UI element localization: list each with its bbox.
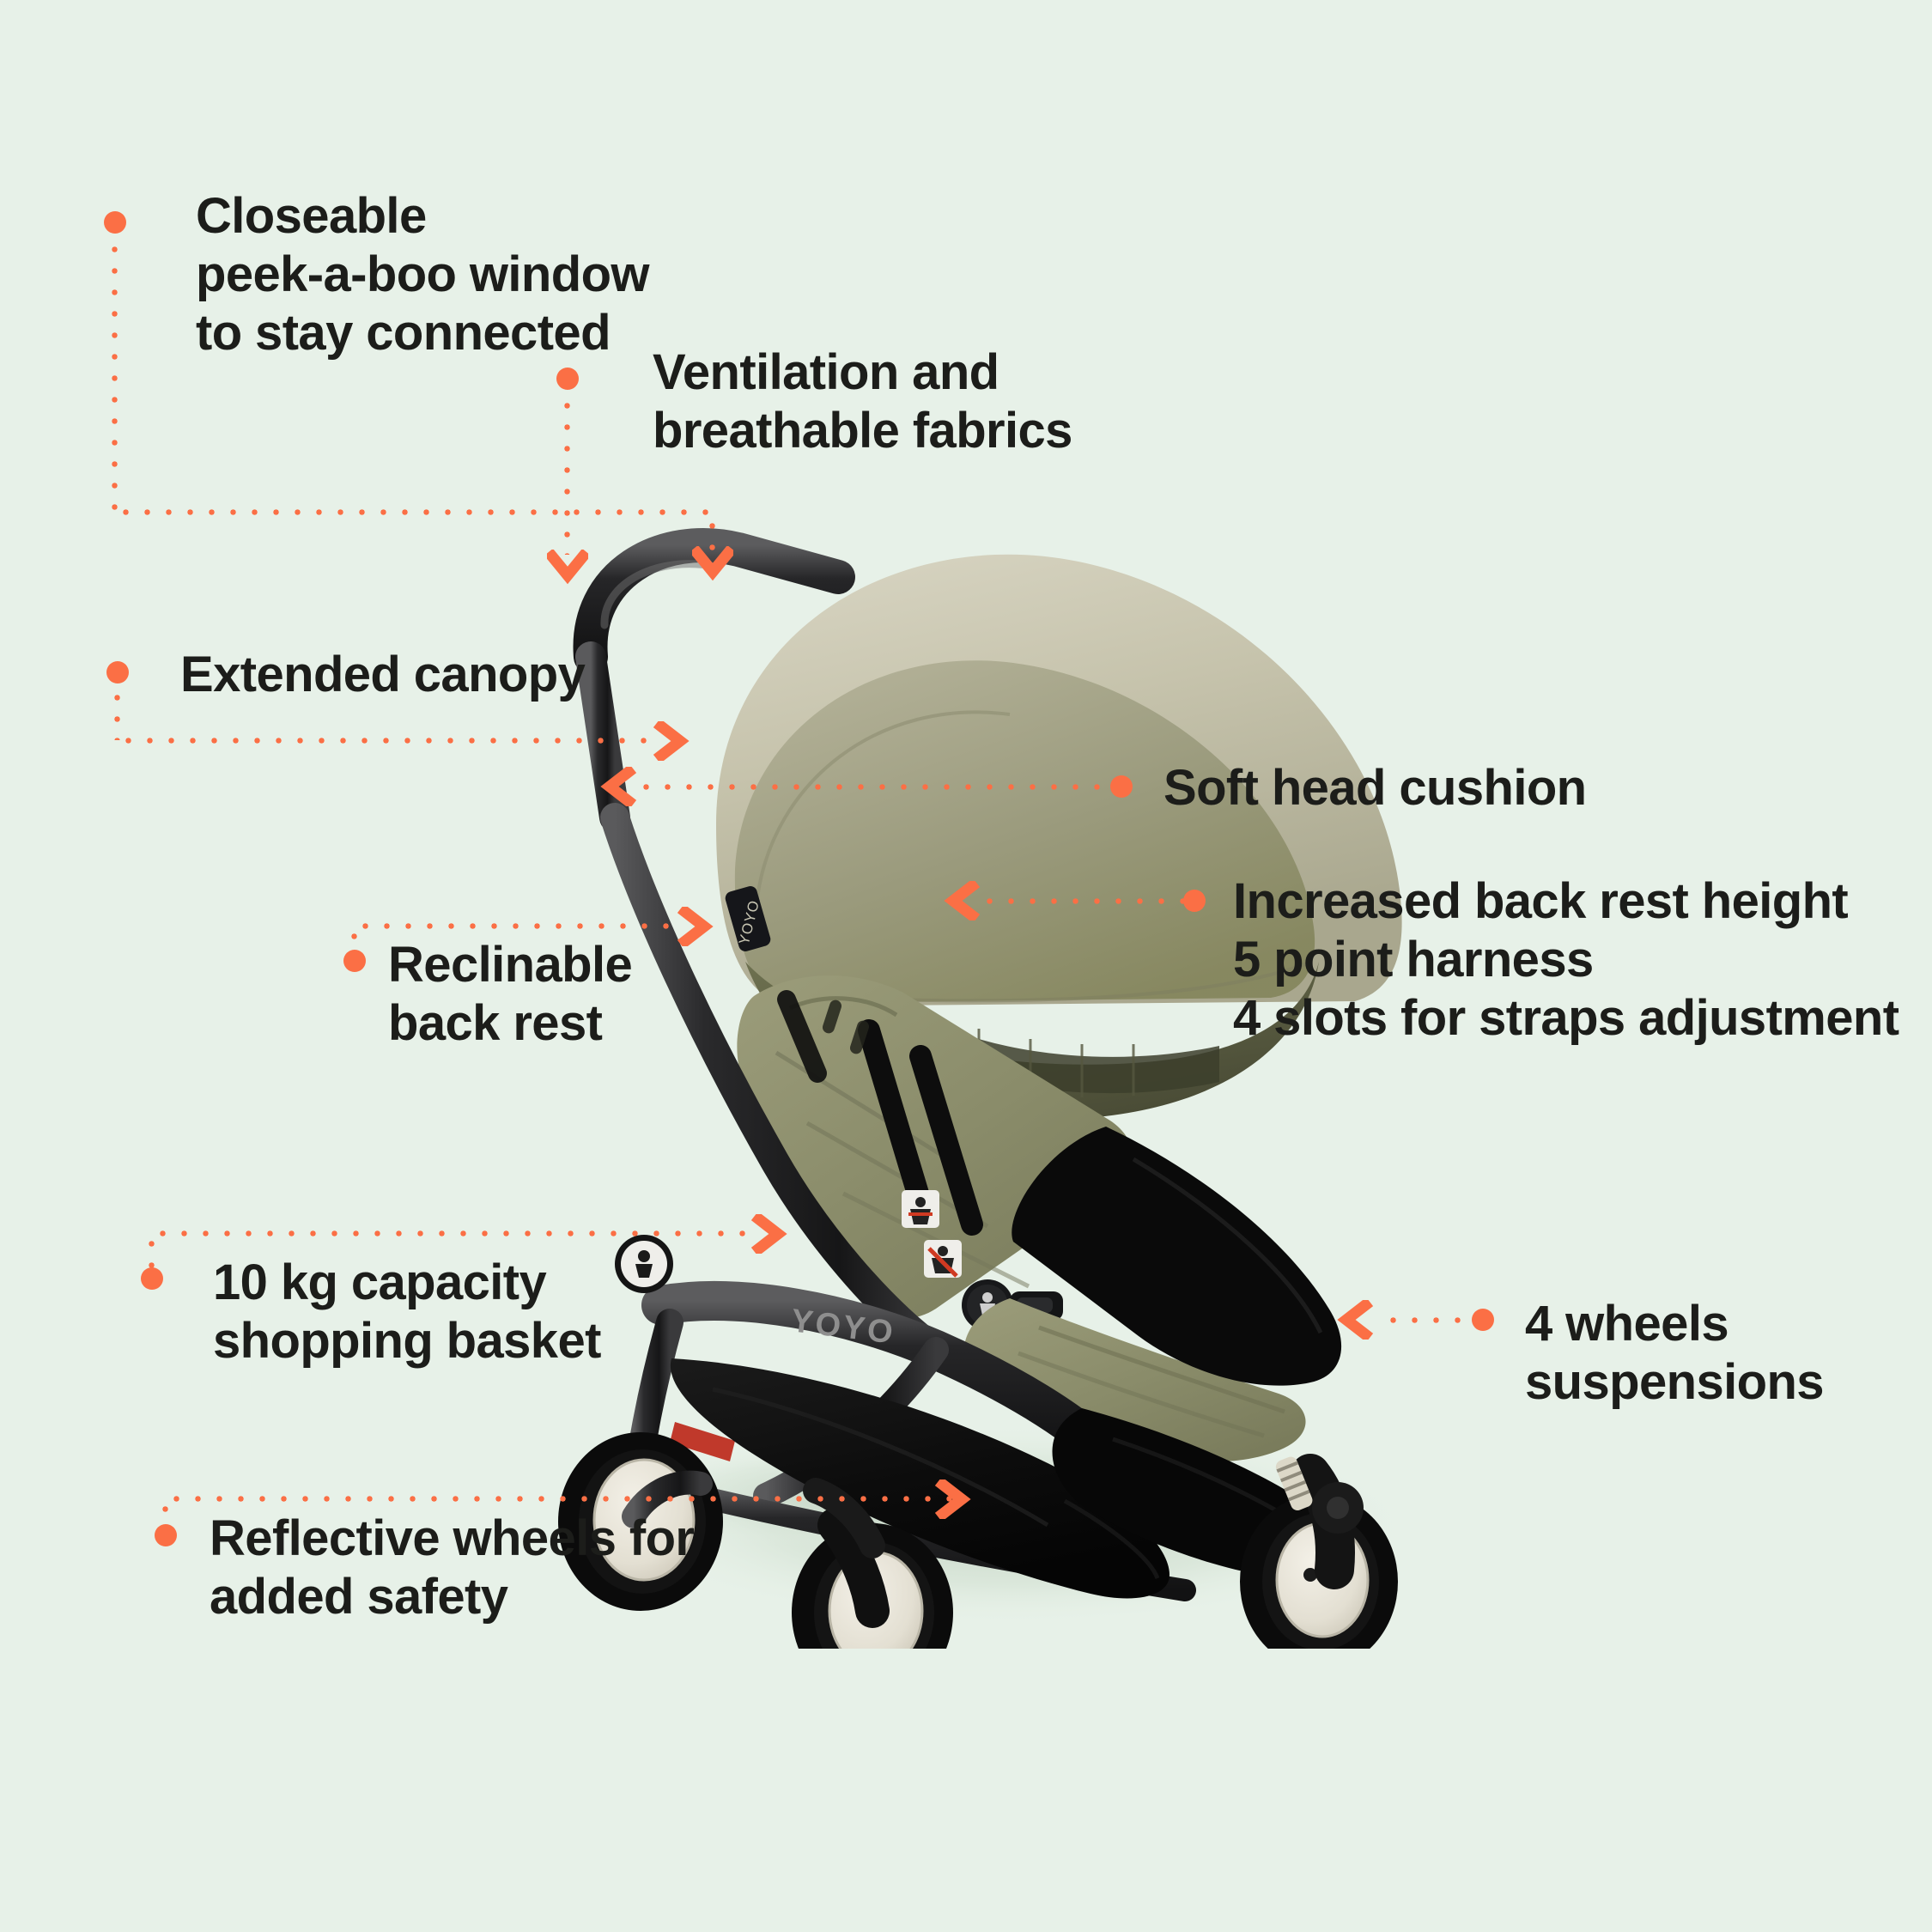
connector-ventilation-v	[562, 395, 572, 555]
connector-back-rest-harness-h	[979, 896, 1185, 906]
label-shopping-basket: 10 kg capacity shopping basket	[213, 1254, 601, 1370]
label-back-rest-harness: Increased back rest height 5 point harne…	[1233, 872, 1899, 1048]
connector-suspensions-h	[1382, 1315, 1475, 1325]
bullet-soft-head-cushion	[1110, 775, 1133, 798]
bullet-back-rest-harness	[1183, 890, 1206, 912]
label-extended-canopy: Extended canopy	[180, 646, 585, 704]
bullet-ventilation	[556, 368, 579, 390]
connector-closeable-window-arrow	[692, 546, 733, 584]
label-ventilation: Ventilation and breathable fabrics	[653, 343, 1072, 460]
connector-closeable-window-h	[115, 507, 716, 517]
connector-suspensions-arrow	[1336, 1300, 1374, 1340]
connector-reclinable-arrow	[677, 907, 714, 946]
connector-basket-v	[147, 1233, 156, 1273]
connector-soft-head-cushion-h	[635, 782, 1113, 792]
connector-extended-canopy-v	[112, 687, 122, 740]
connector-reflective-h	[166, 1494, 956, 1504]
connector-back-rest-harness-arrow	[943, 881, 981, 920]
connector-extended-canopy-h	[118, 736, 659, 745]
infographic-canvas: YOYO	[0, 0, 1932, 1932]
bullet-extended-canopy	[106, 661, 129, 683]
bullet-closeable-window	[104, 211, 126, 234]
label-reflective-wheels: Reflective wheels for added safety	[210, 1510, 694, 1626]
connector-basket-arrow	[750, 1214, 788, 1254]
connector-soft-head-cushion-arrow	[599, 767, 637, 806]
connector-extended-canopy-arrow	[653, 721, 690, 761]
connector-ventilation-arrow	[547, 550, 588, 587]
label-closeable-window: Closeable peek-a-boo window to stay conn…	[196, 187, 649, 362]
connector-basket-h	[152, 1229, 753, 1238]
label-wheels-suspensions: 4 wheels suspensions	[1525, 1295, 1824, 1412]
connector-closeable-window-v1	[110, 239, 119, 512]
label-reclinable-back-rest: Reclinable back rest	[388, 936, 632, 1053]
stroller-product-image: YOYO	[532, 481, 1494, 1649]
connector-reclinable-h	[355, 921, 679, 931]
label-soft-head-cushion: Soft head cushion	[1163, 759, 1587, 817]
connector-reflective-arrow	[934, 1479, 972, 1519]
